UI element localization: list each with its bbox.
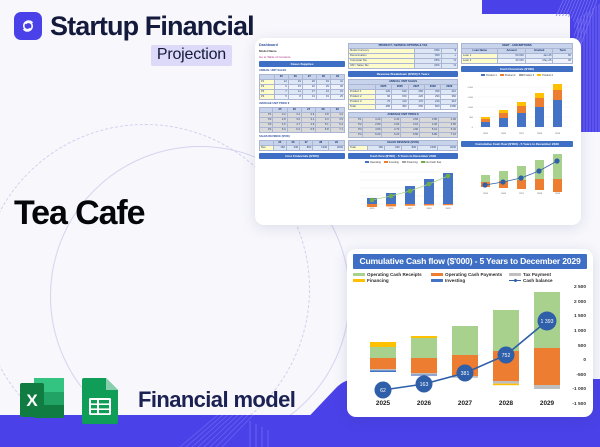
legend-label: Investing xyxy=(445,278,465,283)
legend-item: Product 3 xyxy=(519,74,535,77)
svg-text:2028: 2028 xyxy=(537,193,543,195)
y-tick-0: 0 xyxy=(561,358,586,363)
swirl-e-icon xyxy=(19,17,37,35)
svg-text:2029: 2029 xyxy=(446,208,452,210)
legend-label: Financing xyxy=(367,278,389,283)
legend-swatch-line xyxy=(509,279,521,282)
legend-item-financing: Financing xyxy=(353,278,431,283)
svg-text:2026: 2026 xyxy=(389,208,395,210)
data-label-2026: 163 xyxy=(420,382,429,388)
svg-text:2025: 2025 xyxy=(483,133,489,135)
chart-legend: Operating Cash Receipts Operating Cash P… xyxy=(353,272,587,283)
svg-text:2027: 2027 xyxy=(519,133,525,135)
dashboard-section-label-1: ANNUAL UNIT SALES xyxy=(259,69,345,72)
google-sheets-file-icon xyxy=(76,374,124,426)
dashboard-heading: Dashboard xyxy=(259,43,345,47)
dashboard-table-debt: DEBT - ASSUMPTIONS Loan NameAmountGrante… xyxy=(461,43,573,64)
svg-text:2025: 2025 xyxy=(483,193,489,195)
brand-title: Startup Financial xyxy=(50,13,254,40)
dashboard-grid: Dashboard Model Name Go to Table of Cont… xyxy=(259,43,577,220)
x-tick-2028: 2028 xyxy=(499,400,514,407)
data-label-2025: 62 xyxy=(380,388,386,394)
legend-item: Operating xyxy=(365,161,381,164)
svg-text:2029: 2029 xyxy=(555,133,561,135)
legend-item: Net Cash flow xyxy=(421,161,442,164)
data-label-2029: 1 393 xyxy=(541,319,554,325)
legend-item-cash-balance: Cash balance xyxy=(509,278,587,283)
legend-label: Tax Payment xyxy=(523,272,551,277)
dashboard-toc-link[interactable]: Go to Table of Contents xyxy=(259,55,345,59)
dashboard-mid-column: PRODUCT / SERVICE OPTIONS & TAX Model Cu… xyxy=(348,43,458,220)
data-label-2027: 381 xyxy=(461,371,470,377)
legend-swatch xyxy=(509,273,521,276)
cumulative-cashflow-card[interactable]: Cumulative Cash flow ($'000) - 5 Years t… xyxy=(347,249,593,417)
y-tick-neg1500: -1 500 xyxy=(561,402,586,407)
legend-item-operating-cash-receipts: Operating Cash Receipts xyxy=(353,272,431,277)
legend-swatch xyxy=(431,273,443,276)
dashboard-subheading: Model Name xyxy=(259,49,345,53)
chart-plot-area: 62 163 381 752 1 393 2025 2026 2027 2028… xyxy=(353,285,587,407)
y-tick-2500: 2 500 xyxy=(561,285,586,290)
dashboard-table-avg-price: AVERAGE UNIT PRICE $ P13.203.403.603.804… xyxy=(348,112,458,138)
footer-row: X Financial model xyxy=(18,374,295,426)
legend-label: Operating Cash Payments xyxy=(445,272,502,277)
svg-text:0: 0 xyxy=(472,127,474,129)
dashboard-minichart-cumulative: 20252026 20272028 2029 xyxy=(461,149,573,195)
dashboard-bar-working-capital: Cash Financials ($'000) xyxy=(461,66,573,72)
svg-text:2028: 2028 xyxy=(427,208,433,210)
excel-file-icon: X xyxy=(18,374,66,426)
legend-item: Product 1 xyxy=(481,74,497,77)
badge-row: Projection xyxy=(14,45,232,66)
dashboard-minichart-revenue: 2 0001 500 1 000500 0 xyxy=(461,79,573,139)
dashboard-preview-card[interactable]: Dashboard Model Name Go to Table of Cont… xyxy=(255,38,581,225)
projection-badge: Projection xyxy=(151,45,232,66)
dashboard-bar-core-financials: Core Financials ($'000) xyxy=(259,153,345,159)
dashboard-table-sales-revenue: SALES REVENUE ($'000) Total1604308001330… xyxy=(348,140,458,151)
dashboard-section-label-3: SALES REVENUE ($'000) xyxy=(259,135,345,138)
legend-item: Financing xyxy=(402,161,418,164)
svg-text:X: X xyxy=(26,391,38,410)
svg-text:2 000: 2 000 xyxy=(468,87,474,89)
svg-text:1 000: 1 000 xyxy=(468,107,474,109)
legend-item-operating-cash-payments: Operating Cash Payments xyxy=(431,272,509,277)
footer-label: Financial model xyxy=(138,387,295,413)
legend-item-investing: Investing xyxy=(431,278,509,283)
bar-group-2025 xyxy=(370,342,396,372)
dashboard-right-column: DEBT - ASSUMPTIONS Loan NameAmountGrante… xyxy=(461,43,573,220)
x-tick-2027: 2027 xyxy=(458,400,473,407)
svg-text:1 500: 1 500 xyxy=(468,97,474,99)
svg-text:2028: 2028 xyxy=(537,133,543,135)
legend-swatch xyxy=(431,279,443,282)
chart-svg: 62 163 381 752 1 393 2025 2026 2027 2028… xyxy=(353,285,561,407)
svg-text:500: 500 xyxy=(469,117,473,119)
dashboard-table-revenue: 2526272829 Rev16043080013302040 xyxy=(259,140,345,151)
dashboard-minichart-cashflow: 20252026 20272028 2029 xyxy=(348,166,458,210)
svg-text:2025: 2025 xyxy=(370,208,376,210)
dashboard-bar-revenue-breakdown: Revenue Breakdown ($'000) 5 Years xyxy=(348,71,458,77)
bar-group-2026 xyxy=(411,336,437,376)
dashboard-left-column: Dashboard Model Name Go to Table of Cont… xyxy=(259,43,345,220)
dashboard-bar-cum-cashflow: Cumulative Cash flow ($'000) - 5 Years t… xyxy=(461,141,573,147)
dashboard-section-label-2: AVERAGE UNIT PRICE $ xyxy=(259,102,345,105)
dashboard-minilegend-1: Operating Investing Financing Net Cash f… xyxy=(348,161,458,164)
logo-icon xyxy=(14,12,42,40)
dashboard-table-model-inputs: PRODUCT / SERVICE OPTIONS & TAX Model Cu… xyxy=(348,43,458,69)
y-tick-500: 500 xyxy=(561,344,586,349)
x-tick-2029: 2029 xyxy=(540,400,555,407)
svg-text:2027: 2027 xyxy=(408,208,414,210)
legend-label: Operating Cash Receipts xyxy=(367,272,422,277)
dashboard-bar-cases: Cases Supplies xyxy=(259,61,345,67)
svg-text:2029: 2029 xyxy=(555,193,561,195)
y-axis-labels: 2 500 2 000 1 500 1 000 500 0 -500 -1 00… xyxy=(561,285,587,407)
x-tick-2025: 2025 xyxy=(376,400,391,407)
x-axis-labels: 2025 2026 2027 2028 2029 xyxy=(376,400,555,407)
brand-header: Startup Financial Projection xyxy=(14,12,254,66)
svg-text:2027: 2027 xyxy=(519,193,525,195)
legend-item: Investing xyxy=(384,161,399,164)
svg-text:2026: 2026 xyxy=(501,133,507,135)
chart-title: Cumulative Cash flow ($'000) - 5 Years t… xyxy=(353,254,587,269)
brand-row: Startup Financial xyxy=(14,12,254,40)
x-tick-2026: 2026 xyxy=(417,400,432,407)
bar-group-2029 xyxy=(534,292,560,389)
dashboard-table-price: 2526272829 P13.23.43.63.84.0 P22.83.03.1… xyxy=(259,107,345,133)
y-tick-2000: 2 000 xyxy=(561,300,586,305)
y-tick-1000: 1 000 xyxy=(561,329,586,334)
y-tick-neg500: -500 xyxy=(561,373,586,378)
legend-item: Product 4 xyxy=(537,74,553,77)
dashboard-table-annual-sales: ANNUAL UNIT SALES 20252026202720282029 P… xyxy=(348,79,458,110)
legend-swatch xyxy=(353,273,365,276)
legend-label: Cash balance xyxy=(523,278,553,283)
legend-item-tax-payment: Tax Payment xyxy=(509,272,587,277)
data-label-2028: 752 xyxy=(502,353,511,359)
svg-text:2026: 2026 xyxy=(501,193,507,195)
dashboard-minilegend-2: Product 1 Product 2 Product 3 Product 4 xyxy=(461,74,573,77)
legend-item: Product 2 xyxy=(500,74,516,77)
y-tick-1500: 1 500 xyxy=(561,314,586,319)
y-tick-neg1000: -1 000 xyxy=(561,387,586,392)
dashboard-table-units: 2526272829 P11219263341 P2915222936 P371… xyxy=(259,74,345,100)
dashboard-bar-cashflow-1: Cash flow ($'000) - 5 Years to December … xyxy=(348,153,458,159)
page-title: Tea Cafe xyxy=(14,196,144,230)
legend-swatch xyxy=(353,279,365,282)
